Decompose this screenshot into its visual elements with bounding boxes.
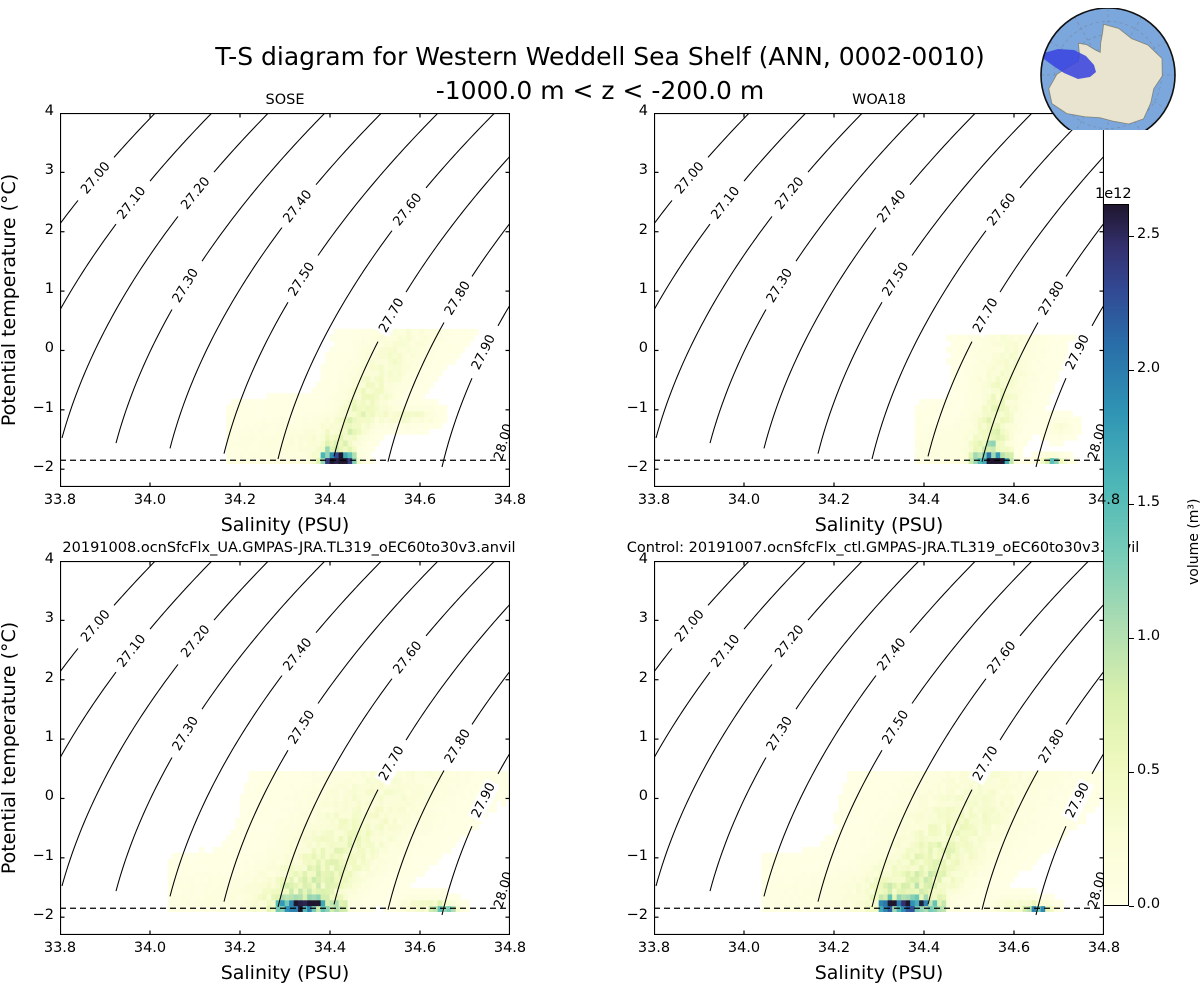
antarctic-locator-map <box>1032 8 1184 130</box>
colorbar-tick-label: 0.5 <box>1137 762 1160 778</box>
xtick-label: 33.8 <box>624 940 684 956</box>
figure-title-line1: T-S diagram for Western Weddell Sea Shel… <box>0 42 1200 71</box>
xtick-label: 34.0 <box>714 940 774 956</box>
xtick-label: 34.8 <box>480 940 540 956</box>
ytick-label: 2 <box>606 222 648 238</box>
colorbar-tick-mark <box>1129 370 1134 371</box>
ytick-label: 2 <box>606 670 648 686</box>
xtick-label: 34.2 <box>210 940 270 956</box>
ytick-label: 0 <box>606 340 648 356</box>
colorbar-tick-label: 2.5 <box>1137 226 1160 242</box>
xtick-label: 33.8 <box>624 492 684 508</box>
x-axis-label: Salinity (PSU) <box>654 962 1104 984</box>
ytick-label: 4 <box>606 551 648 567</box>
xtick-label: 34.8 <box>480 492 540 508</box>
ytick-label: −2 <box>606 907 648 923</box>
xtick-label: 34.4 <box>894 940 954 956</box>
ytick-label: −1 <box>606 848 648 864</box>
ytick-label: 3 <box>606 610 648 626</box>
panel-title-ua-run: 20191008.ocnSfcFlx_UA.GMPAS-JRA.TL319_oE… <box>0 540 594 556</box>
colorbar-tick-mark <box>1129 906 1134 907</box>
colorbar-exponent-label: 1e12 <box>1095 186 1132 202</box>
x-axis-label: Salinity (PSU) <box>654 514 1104 536</box>
xtick-label: 34.4 <box>894 492 954 508</box>
xtick-label: 34.4 <box>300 492 360 508</box>
panel-title-control-run: Control: 20191007.ocnSfcFlx_ctl.GMPAS-JR… <box>578 540 1188 556</box>
xtick-label: 34.8 <box>1074 492 1134 508</box>
ytick-label: 3 <box>606 162 648 178</box>
ytick-label: 1 <box>606 281 648 297</box>
colorbar-tick-label: 1.5 <box>1137 494 1160 510</box>
xtick-label: 34.6 <box>390 492 450 508</box>
xtick-label: 34.8 <box>1074 940 1134 956</box>
y-axis-label: Potential temperature (°C) <box>0 113 20 487</box>
xtick-label: 34.2 <box>804 492 864 508</box>
x-axis-label: Salinity (PSU) <box>60 962 510 984</box>
plot-area-control-run <box>654 561 1104 935</box>
ytick-label: 1 <box>606 729 648 745</box>
colorbar-tick-label: 1.0 <box>1137 628 1160 644</box>
xtick-label: 34.0 <box>120 940 180 956</box>
y-axis-label: Potential temperature (°C) <box>0 561 20 935</box>
xtick-label: 34.2 <box>804 940 864 956</box>
xtick-label: 33.8 <box>30 940 90 956</box>
plot-area-sose <box>60 113 510 487</box>
colorbar-axis-label: volume (m³) <box>1186 499 1200 586</box>
figure-canvas: T-S diagram for Western Weddell Sea Shel… <box>0 0 1200 1000</box>
xtick-label: 33.8 <box>30 492 90 508</box>
plot-area-woa18 <box>654 113 1104 487</box>
xtick-label: 34.6 <box>984 940 1044 956</box>
colorbar-tick-mark <box>1129 236 1134 237</box>
colorbar-tick-mark <box>1129 772 1134 773</box>
panel-title-sose: SOSE <box>60 92 510 108</box>
xtick-label: 34.4 <box>300 940 360 956</box>
colorbar-tick-label: 0.0 <box>1137 896 1160 912</box>
colorbar-tick-mark <box>1129 504 1134 505</box>
xtick-label: 34.6 <box>390 940 450 956</box>
xtick-label: 34.0 <box>120 492 180 508</box>
ytick-label: 0 <box>606 788 648 804</box>
xtick-label: 34.2 <box>210 492 270 508</box>
ytick-label: −1 <box>606 400 648 416</box>
xtick-label: 34.0 <box>714 492 774 508</box>
colorbar-tick-mark <box>1129 638 1134 639</box>
colorbar-gradient <box>1103 204 1129 906</box>
colorbar-tick-label: 2.0 <box>1137 360 1160 376</box>
ytick-label: 4 <box>606 103 648 119</box>
x-axis-label: Salinity (PSU) <box>60 514 510 536</box>
ytick-label: −2 <box>606 459 648 475</box>
plot-area-ua-run <box>60 561 510 935</box>
xtick-label: 34.6 <box>984 492 1044 508</box>
